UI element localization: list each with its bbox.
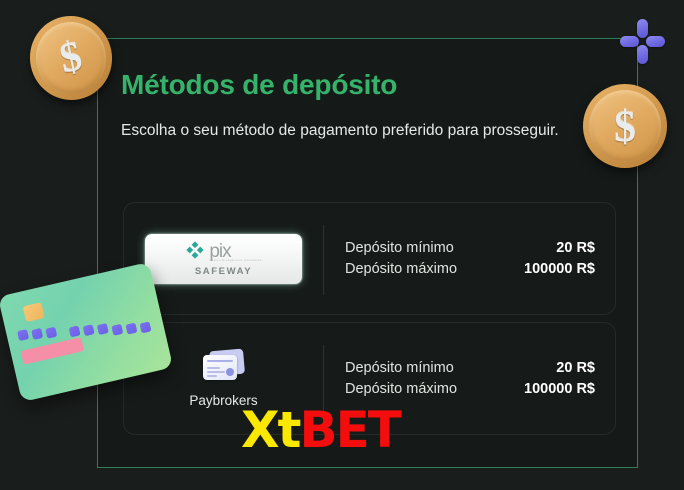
limit-label: Depósito mínimo — [345, 240, 454, 256]
safeway-brand-label: SAFEWAY — [195, 266, 252, 277]
dollar-coin-icon-left: $ — [22, 8, 120, 107]
limit-row: Depósito máximo 100000 R$ — [345, 381, 595, 397]
plus-sparkle-icon — [620, 19, 665, 64]
pix-limits: Depósito mínimo 20 R$ Depósito máximo 10… — [323, 240, 615, 277]
page-title: Métodos de depósito — [121, 69, 397, 101]
coin-dollar-glyph: $ — [583, 84, 667, 168]
pix-diamond-icon — [185, 240, 205, 265]
watermark-part-xt: Xt — [241, 401, 299, 459]
pix-safeway-badge: pix arranjo de pagamento instantâneo SAF… — [145, 234, 302, 284]
dollar-coin-icon-right: $ — [583, 84, 667, 168]
limit-value: 100000 R$ — [524, 261, 595, 277]
pix-wordmark: pix — [209, 243, 230, 260]
limit-label: Depósito mínimo — [345, 360, 454, 376]
page-root: Métodos de depósito Escolha o seu método… — [0, 0, 684, 490]
limit-value: 20 R$ — [556, 360, 595, 376]
limit-value: 100000 R$ — [524, 381, 595, 397]
xtbet-watermark: XtBET — [241, 405, 400, 455]
limit-row: Depósito máximo 100000 R$ — [345, 261, 595, 277]
limit-value: 20 R$ — [556, 240, 595, 256]
limit-row: Depósito mínimo 20 R$ — [345, 240, 595, 256]
coin-dollar-glyph: $ — [22, 8, 120, 107]
watermark-part-bet: BET — [299, 401, 399, 459]
credit-cards-icon — [201, 350, 247, 386]
paybrokers-limits: Depósito mínimo 20 R$ Depósito máximo 10… — [323, 360, 615, 397]
card-magnetic-stripe — [21, 337, 85, 365]
card-column-divider — [323, 225, 324, 295]
page-subtitle: Escolha o seu método de pagamento prefer… — [121, 117, 573, 145]
limit-label: Depósito máximo — [345, 261, 457, 277]
card-chip — [23, 302, 45, 322]
payment-method-pix-safeway[interactable]: pix arranjo de pagamento instantâneo SAF… — [123, 202, 616, 315]
limit-label: Depósito máximo — [345, 381, 457, 397]
pix-logo-row: pix arranjo de pagamento instantâneo — [185, 240, 261, 265]
pix-subtext: arranjo de pagamento instantâneo — [209, 259, 261, 262]
limit-row: Depósito mínimo 20 R$ — [345, 360, 595, 376]
